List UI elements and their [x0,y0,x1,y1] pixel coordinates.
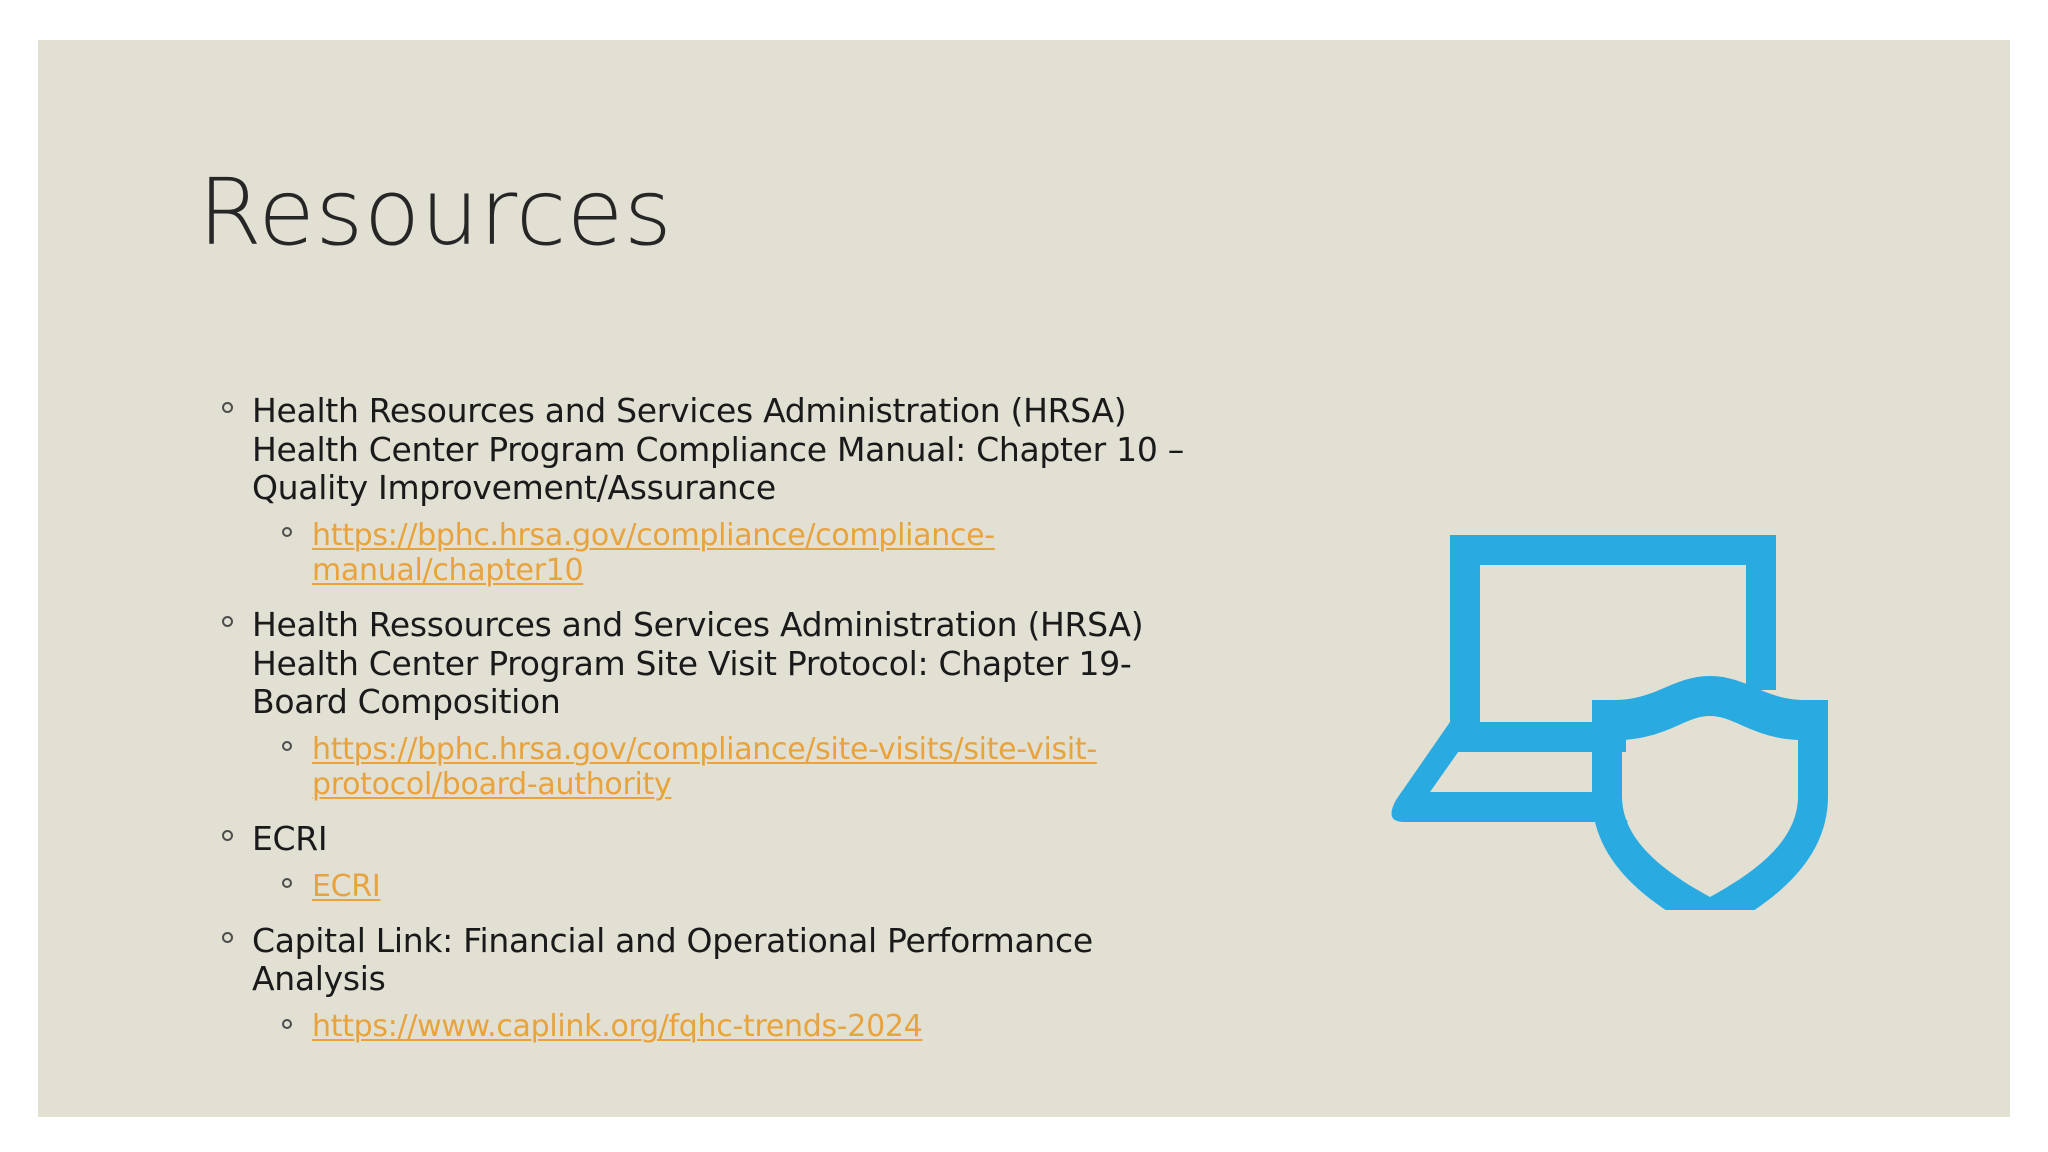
resource-link[interactable]: https://www.caplink.org/fqhc-trends-2024 [312,1009,922,1044]
page-title: Resources [198,165,672,262]
sub-list-item: https://bphc.hrsa.gov/compliance/site-vi… [276,732,1236,802]
bullet-circle-icon [222,830,233,841]
bullet-circle-icon [222,616,233,627]
sub-list-item: https://bphc.hrsa.gov/compliance/complia… [276,518,1236,588]
resource-link[interactable]: https://bphc.hrsa.gov/compliance/complia… [312,518,995,588]
resource-link[interactable]: https://bphc.hrsa.gov/compliance/site-vi… [312,732,1097,802]
list-item: Capital Link: Financial and Operational … [216,922,1236,1044]
bullet-circle-icon [282,741,292,751]
sub-list-item: ECRI [276,869,1236,904]
bullet-circle-icon [222,402,233,413]
list-item: Health Ressources and Services Administr… [216,606,1236,802]
bullet-circle-icon [222,932,233,943]
slide-canvas: Resources Health Resources and Services … [38,40,2010,1117]
list-item: Health Resources and Services Administra… [216,392,1236,588]
bullet-text: Capital Link: Financial and Operational … [216,922,1236,999]
bullet-text: ECRI [216,820,1236,859]
bullet-label: Capital Link: Financial and Operational … [252,921,1093,999]
resource-link[interactable]: ECRI [312,869,380,904]
list-item: ECRI ECRI [216,820,1236,904]
bullet-circle-icon [282,878,292,888]
bullet-circle-icon [282,527,292,537]
laptop-shield-icon [1388,510,1848,910]
bullet-label: Health Ressources and Services Administr… [252,605,1143,721]
sub-list-item: https://www.caplink.org/fqhc-trends-2024 [276,1009,1236,1044]
bullet-text: Health Resources and Services Administra… [216,392,1236,508]
bullet-text: Health Ressources and Services Administr… [216,606,1236,722]
resources-list: Health Resources and Services Administra… [216,392,1236,1062]
bullet-circle-icon [282,1019,292,1029]
bullet-label: Health Resources and Services Administra… [252,391,1184,507]
bullet-label: ECRI [252,819,327,858]
